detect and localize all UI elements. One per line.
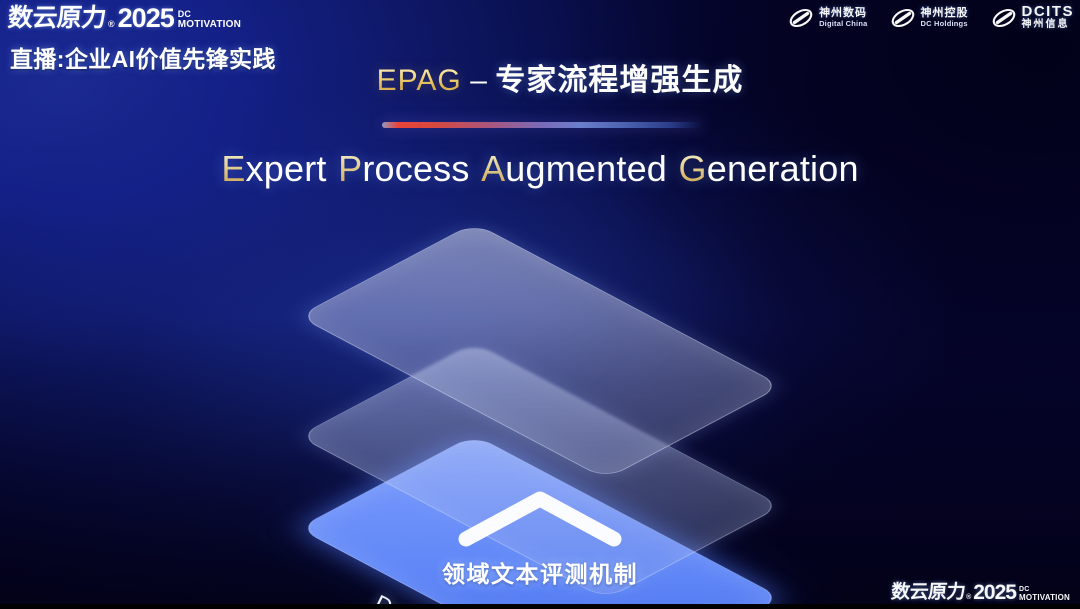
subtitle-cap-e: E [221, 148, 245, 189]
corporate-logo-bar: 神州数码 Digital China 神州控股 DC Holdings DCIT… [788, 4, 1074, 31]
headline-acronym: EPAG [377, 64, 462, 97]
brand-dc-line2: MOTIVATION [178, 19, 241, 30]
logo-dcits-text: DCITS 神州信息 [1022, 4, 1075, 31]
layer-plate-top [320, 225, 760, 477]
subtitle-rest-expert: xpert [246, 148, 327, 189]
logo-dc-holdings: 神州控股 DC Holdings [890, 6, 969, 30]
subtitle-word-process: Process [338, 148, 469, 189]
subtitle-rest-generation: eneration [707, 148, 859, 189]
slide-stage: 数云原力 ® 2025 DC MOTIVATION 直播:企业AI价值先锋实践 … [0, 0, 1080, 609]
header-left-group: 数云原力 ® 2025 DC MOTIVATION 直播:企业AI价值先锋实践 [8, 3, 276, 74]
subtitle-rest-augmented: ugmented [505, 148, 667, 189]
watermark-year: 2025 [973, 583, 1016, 603]
logo-dc-holdings-en: DC Holdings [921, 19, 969, 28]
logo-digital-china: 神州数码 Digital China [788, 6, 867, 30]
logo-dcits-cn: 神州信息 [1022, 19, 1075, 31]
watermark-dc-line2: MOTIVATION [1019, 593, 1070, 602]
logo-dcits: DCITS 神州信息 [991, 4, 1075, 31]
brand-dc-line1: DC [178, 10, 241, 19]
logo-dc-holdings-text: 神州控股 DC Holdings [921, 7, 969, 28]
subtitle-cap-g: G [679, 148, 707, 189]
swoosh-icon [788, 6, 814, 30]
subtitle-word-generation: Generation [679, 148, 859, 189]
swoosh-icon [991, 6, 1017, 30]
subtitle-cap-p: P [338, 148, 362, 189]
logo-digital-china-en: Digital China [819, 19, 867, 28]
subtitle-cap-a: A [481, 148, 505, 189]
watermark-dc-motivation: DC MOTIVATION [1019, 586, 1070, 602]
brand-dc-motivation: DC MOTIVATION [178, 10, 241, 30]
logo-digital-china-text: 神州数码 Digital China [819, 7, 867, 28]
bottom-letterbox-bar [0, 604, 1080, 609]
brand-year: 2025 [118, 5, 174, 31]
logo-dcits-en: DCITS [1022, 4, 1075, 19]
brand-registered-mark: ® [108, 17, 115, 31]
watermark-dc-line1: DC [1019, 586, 1070, 593]
layer-plate-top-face [298, 223, 782, 480]
headline-divider [382, 122, 702, 128]
slide-subtitle: ExpertProcessAugmentedGeneration [0, 148, 1080, 190]
headline-chinese: 专家流程增强生成 [495, 64, 743, 97]
subtitle-word-expert: Expert [221, 148, 326, 189]
subtitle-word-augmented: Augmented [481, 148, 667, 189]
logo-digital-china-cn: 神州数码 [819, 7, 867, 19]
logo-dc-holdings-cn: 神州控股 [921, 7, 969, 19]
livestream-title: 直播:企业AI价值先锋实践 [10, 40, 276, 74]
event-brand-logo: 数云原力 ® 2025 DC MOTIVATION [8, 3, 276, 31]
swoosh-icon [890, 6, 916, 30]
brand-name-cn: 数云原力 [7, 5, 107, 31]
headline-dash: – [466, 64, 491, 97]
subtitle-rest-process: rocess [362, 148, 469, 189]
layer-stack-diagram: 领域文本评测机制 Dynamic MOE 长文本记忆 三类语义建模模块 [0, 225, 1080, 585]
watermark-registered-mark: ® [966, 592, 971, 603]
watermark-brand-cn: 数云原力 [890, 583, 966, 603]
footer-brand-watermark: 数云原力 ® 2025 DC MOTIVATION [891, 583, 1070, 603]
